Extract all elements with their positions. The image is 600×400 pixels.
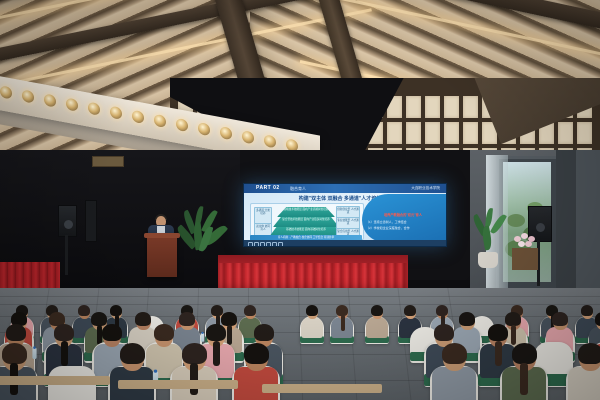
audience-hair — [6, 324, 26, 341]
audience-hair — [182, 343, 207, 364]
lattice-panel — [406, 122, 421, 144]
audience-hair — [78, 305, 90, 316]
slide-bullet-1: （2）学校和企业深度融合，合作 — [366, 226, 442, 230]
water-bottle — [32, 348, 36, 359]
conference-table — [118, 380, 238, 389]
pa-speaker-left — [58, 205, 77, 237]
audience-hair — [221, 312, 237, 326]
downlight — [88, 102, 100, 116]
highlighter-icon[interactable] — [260, 242, 265, 247]
slide-toolbar[interactable] — [244, 240, 446, 246]
audience-hair — [488, 324, 508, 341]
audience-hair — [552, 312, 568, 326]
downlight — [176, 118, 188, 132]
downlight — [66, 98, 78, 112]
audience-hair — [154, 324, 174, 341]
audience-hair — [206, 324, 226, 341]
audience-ponytail — [520, 363, 528, 395]
audience-hair — [244, 343, 269, 364]
audience-hair — [512, 343, 537, 364]
slide-bullet-0: （1）坚持立德树人，工学结合 — [366, 220, 442, 224]
lattice-panel — [444, 96, 459, 118]
audience-hair — [102, 324, 122, 341]
lattice-panel — [558, 122, 573, 144]
downlight — [198, 122, 210, 136]
wall-speaker-left — [85, 200, 97, 242]
conference-table — [262, 384, 382, 393]
slide-wave-shape — [362, 194, 446, 242]
audience-hair — [306, 305, 318, 316]
eraser-icon[interactable] — [266, 242, 271, 247]
downlight — [264, 134, 276, 148]
audience-hair — [459, 312, 475, 326]
conference-hall-photo: PART 02 融合育人 大连职业技术学院 构建"双主体 双融合 多通道"人才培… — [0, 0, 600, 400]
audience-ponytail — [341, 315, 345, 331]
conference-table — [0, 376, 110, 385]
lattice-panel — [463, 122, 478, 144]
downlight — [242, 130, 254, 144]
audience-hair — [2, 343, 27, 364]
audience-hair — [91, 312, 107, 326]
audience-torso — [432, 367, 476, 400]
downlight — [0, 85, 12, 99]
slide-highlight-text: 培养产教融合的"双元"育人 — [366, 212, 440, 217]
slide-part-label: PART 02 — [256, 185, 280, 191]
audience-ponytail — [61, 341, 68, 366]
lattice-panel — [577, 122, 592, 144]
flower-arrangement — [512, 232, 540, 250]
downlight — [110, 106, 122, 120]
downlight — [132, 110, 144, 124]
pen-icon[interactable] — [254, 242, 259, 247]
menu-icon[interactable] — [278, 242, 283, 247]
lattice-panel — [387, 122, 402, 144]
audience-hair — [404, 305, 416, 316]
audience-hair — [595, 312, 600, 326]
wall-plaque — [92, 156, 124, 167]
audience-hair — [442, 343, 467, 364]
audience-hair — [371, 305, 383, 316]
audience-torso — [568, 367, 600, 400]
audience-hair — [254, 324, 274, 341]
audience-ponytail — [495, 341, 502, 366]
audience-hair — [54, 324, 74, 341]
downlight — [22, 89, 34, 103]
audience-hair — [581, 305, 593, 316]
audience-hair — [578, 343, 600, 364]
downlight — [154, 114, 166, 128]
lattice-panel — [444, 122, 459, 144]
slide-org-label: 大连职业技术学院 — [411, 186, 440, 191]
slide-left-box-0: 多通道 分类培养 — [254, 207, 272, 224]
seated-audience — [0, 250, 600, 400]
audience-hair — [120, 343, 145, 364]
audience-torso — [366, 317, 388, 338]
audience-ponytail — [227, 325, 232, 345]
lattice-panel — [463, 96, 478, 118]
lattice-panel — [425, 96, 440, 118]
audience-hair — [505, 312, 521, 326]
podium-top — [144, 233, 180, 238]
audience-ponytail — [213, 341, 220, 366]
audience-hair — [179, 312, 195, 326]
projection-screen[interactable]: PART 02 融合育人 大连职业技术学院 构建"双主体 双融合 多通道"人才培… — [243, 183, 447, 247]
slide-pyramid-tier-0: 高端技术技能层 面向产业高端岗位培养 — [277, 207, 335, 217]
pointer-icon[interactable] — [248, 242, 253, 247]
audience-hair — [244, 305, 256, 316]
downlight — [44, 93, 56, 107]
audience-torso — [301, 317, 323, 338]
water-bottle — [201, 333, 204, 342]
audience-hair — [434, 324, 454, 341]
audience-ponytail — [190, 363, 198, 395]
lattice-panel — [425, 122, 440, 144]
lattice-panel — [406, 96, 421, 118]
audience-ponytail — [511, 325, 516, 345]
slide-pyramid-tier-1: 复合型技术技能层 面向产业链多岗位培养 — [273, 217, 339, 227]
audience-hair — [135, 312, 151, 326]
downlight — [220, 126, 232, 140]
slide-part-subtitle: 融合育人 — [290, 186, 306, 192]
slide-icon[interactable] — [272, 242, 277, 247]
